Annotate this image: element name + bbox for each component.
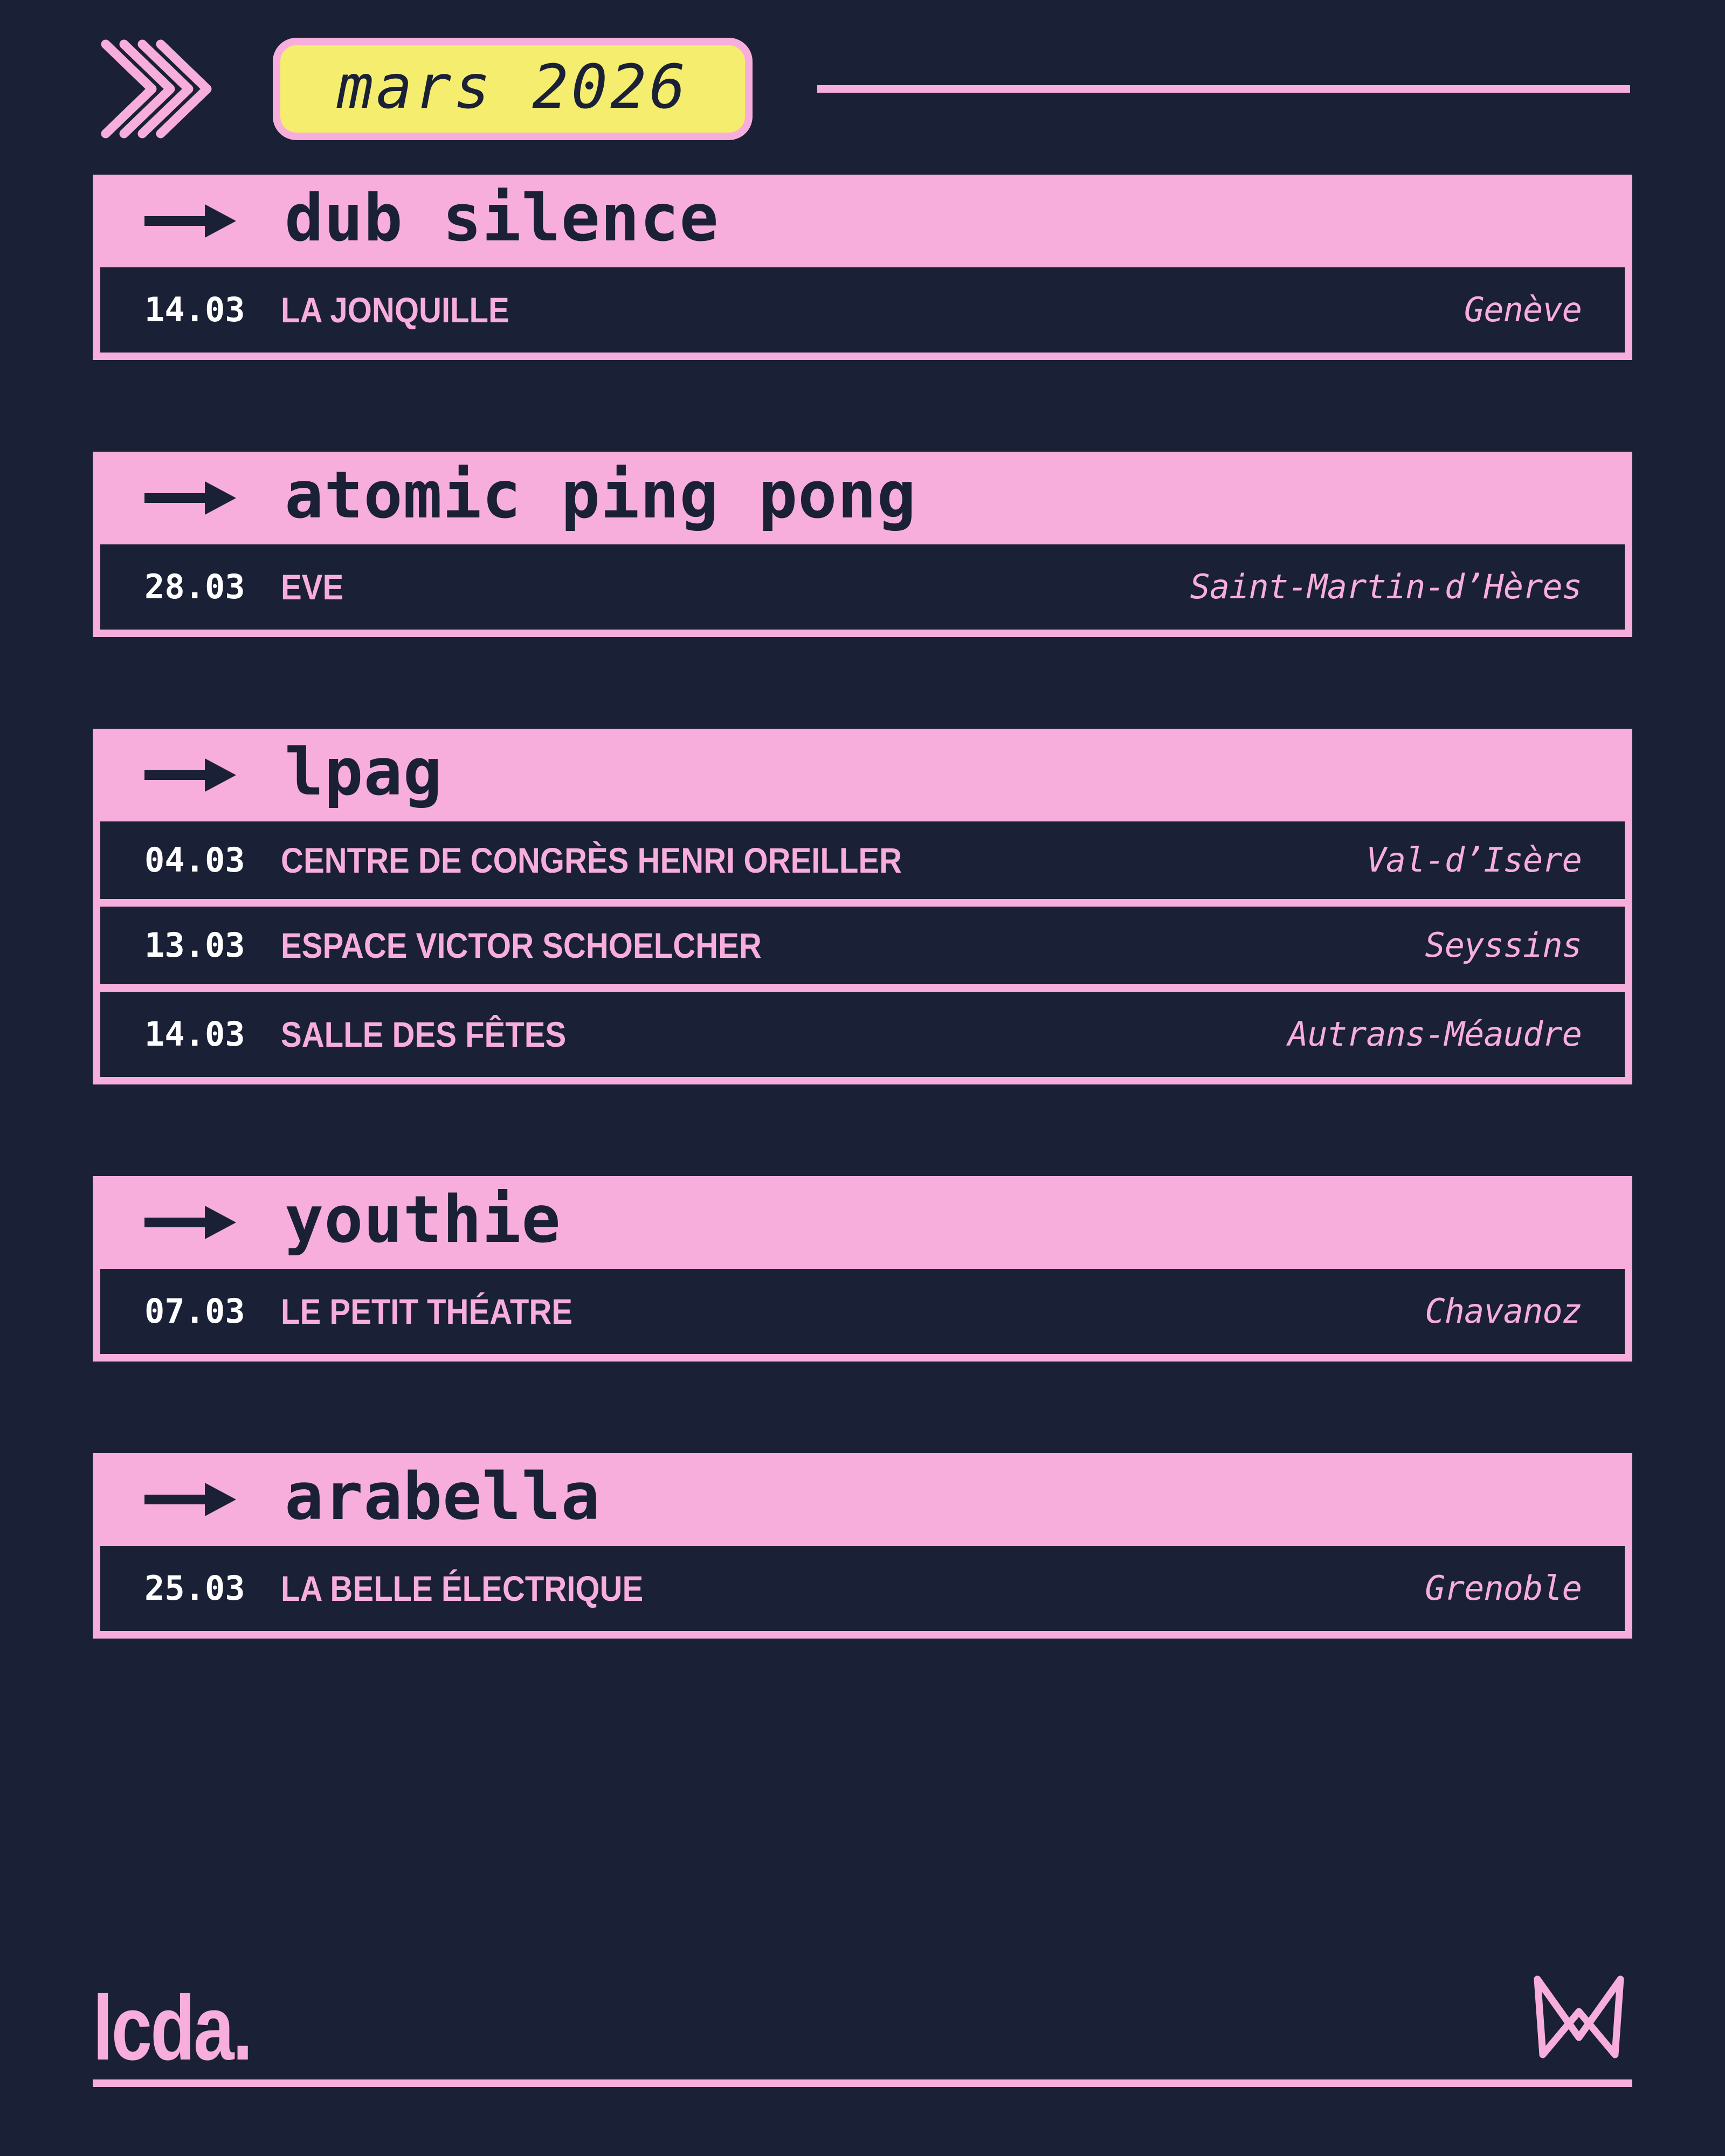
arrow-right-icon bbox=[144, 758, 236, 792]
row-venue: LA JONQUILLE bbox=[281, 292, 509, 328]
event-card[interactable]: youthie 07.03 LE PETIT THÉATRE Chavanoz bbox=[93, 1176, 1632, 1362]
footer-rule bbox=[93, 2079, 1632, 2087]
month-badge-label: mars 2026 bbox=[337, 57, 688, 118]
event-card-header: dub silence bbox=[93, 175, 1632, 267]
row-date: 13.03 bbox=[144, 929, 245, 962]
event-card[interactable]: dub silence 14.03 LA JONQUILLE Genève bbox=[93, 175, 1632, 360]
arrow-right-icon bbox=[144, 1206, 236, 1239]
artist-name: atomic ping pong bbox=[285, 464, 916, 528]
date-rows: 14.03 LA JONQUILLE Genève bbox=[100, 267, 1625, 353]
date-rows: 28.03 EVE Saint-Martin-d’Hères bbox=[100, 544, 1625, 630]
row-city: Genève bbox=[1464, 293, 1582, 327]
event-card-header: lpag bbox=[93, 729, 1632, 821]
date-row[interactable]: 07.03 LE PETIT THÉATRE Chavanoz bbox=[100, 1269, 1625, 1354]
arrow-right-icon bbox=[144, 481, 236, 515]
row-city: Val-d’Isère bbox=[1366, 844, 1582, 877]
date-row[interactable]: 14.03 LA JONQUILLE Genève bbox=[100, 267, 1625, 353]
date-rows: 07.03 LE PETIT THÉATRE Chavanoz bbox=[100, 1269, 1625, 1354]
event-card-header: arabella bbox=[93, 1453, 1632, 1546]
row-date: 14.03 bbox=[144, 293, 245, 327]
event-card[interactable]: lpag 04.03 CENTRE DE CONGRÈS HENRI OREIL… bbox=[93, 729, 1632, 1084]
month-badge[interactable]: mars 2026 bbox=[273, 38, 753, 140]
event-card[interactable]: arabella 25.03 LA BELLE ÉLECTRIQUE Greno… bbox=[93, 1453, 1632, 1639]
butterfly-monogram-icon bbox=[1530, 1973, 1628, 2063]
row-date: 25.03 bbox=[144, 1572, 245, 1605]
row-date: 07.03 bbox=[144, 1295, 245, 1328]
row-city: Chavanoz bbox=[1425, 1295, 1582, 1328]
row-venue: CENTRE DE CONGRÈS HENRI OREILLER bbox=[281, 842, 902, 878]
date-row[interactable]: 04.03 CENTRE DE CONGRÈS HENRI OREILLER V… bbox=[100, 821, 1625, 907]
chevrons-right-icon bbox=[88, 27, 212, 151]
poster-root: mars 2026 dub silence 14.03 LA JONQUILLE… bbox=[0, 0, 1725, 2156]
brand-wordmark: lcda. bbox=[93, 1989, 251, 2068]
row-venue: SALLE DES FÊTES bbox=[281, 1017, 566, 1052]
artist-name: arabella bbox=[285, 1465, 601, 1530]
row-venue: ESPACE VICTOR SCHOELCHER bbox=[281, 928, 762, 963]
event-card-header: atomic ping pong bbox=[93, 452, 1632, 544]
date-row[interactable]: 14.03 SALLE DES FÊTES Autrans-Méaudre bbox=[100, 992, 1625, 1077]
date-row[interactable]: 28.03 EVE Saint-Martin-d’Hères bbox=[100, 544, 1625, 630]
date-row[interactable]: 13.03 ESPACE VICTOR SCHOELCHER Seyssins bbox=[100, 907, 1625, 992]
event-card-header: youthie bbox=[93, 1176, 1632, 1269]
date-row[interactable]: 25.03 LA BELLE ÉLECTRIQUE Grenoble bbox=[100, 1546, 1625, 1631]
row-city: Grenoble bbox=[1425, 1572, 1582, 1605]
row-venue: EVE bbox=[281, 569, 343, 605]
row-venue: LE PETIT THÉATRE bbox=[281, 1294, 572, 1329]
row-city: Seyssins bbox=[1425, 929, 1582, 962]
row-city: Autrans-Méaudre bbox=[1288, 1018, 1582, 1051]
row-city: Saint-Martin-d’Hères bbox=[1190, 570, 1582, 604]
artist-name: lpag bbox=[285, 741, 443, 805]
header: mars 2026 bbox=[93, 0, 1632, 162]
row-date: 14.03 bbox=[144, 1018, 245, 1051]
footer: lcda. bbox=[93, 1954, 1632, 2087]
row-venue: LA BELLE ÉLECTRIQUE bbox=[281, 1571, 643, 1606]
artist-name: dub silence bbox=[285, 186, 719, 251]
date-rows: 25.03 LA BELLE ÉLECTRIQUE Grenoble bbox=[100, 1546, 1625, 1631]
date-rows: 04.03 CENTRE DE CONGRÈS HENRI OREILLER V… bbox=[100, 821, 1625, 1077]
event-card[interactable]: atomic ping pong 28.03 EVE Saint-Martin-… bbox=[93, 452, 1632, 637]
artist-name: youthie bbox=[285, 1188, 561, 1253]
row-date: 28.03 bbox=[144, 570, 245, 604]
arrow-right-icon bbox=[144, 1483, 236, 1516]
event-list: dub silence 14.03 LA JONQUILLE Genève at… bbox=[93, 175, 1632, 1639]
row-date: 04.03 bbox=[144, 844, 245, 877]
footer-top: lcda. bbox=[93, 1954, 1632, 2068]
arrow-right-icon bbox=[144, 204, 236, 238]
header-rule bbox=[817, 85, 1630, 93]
